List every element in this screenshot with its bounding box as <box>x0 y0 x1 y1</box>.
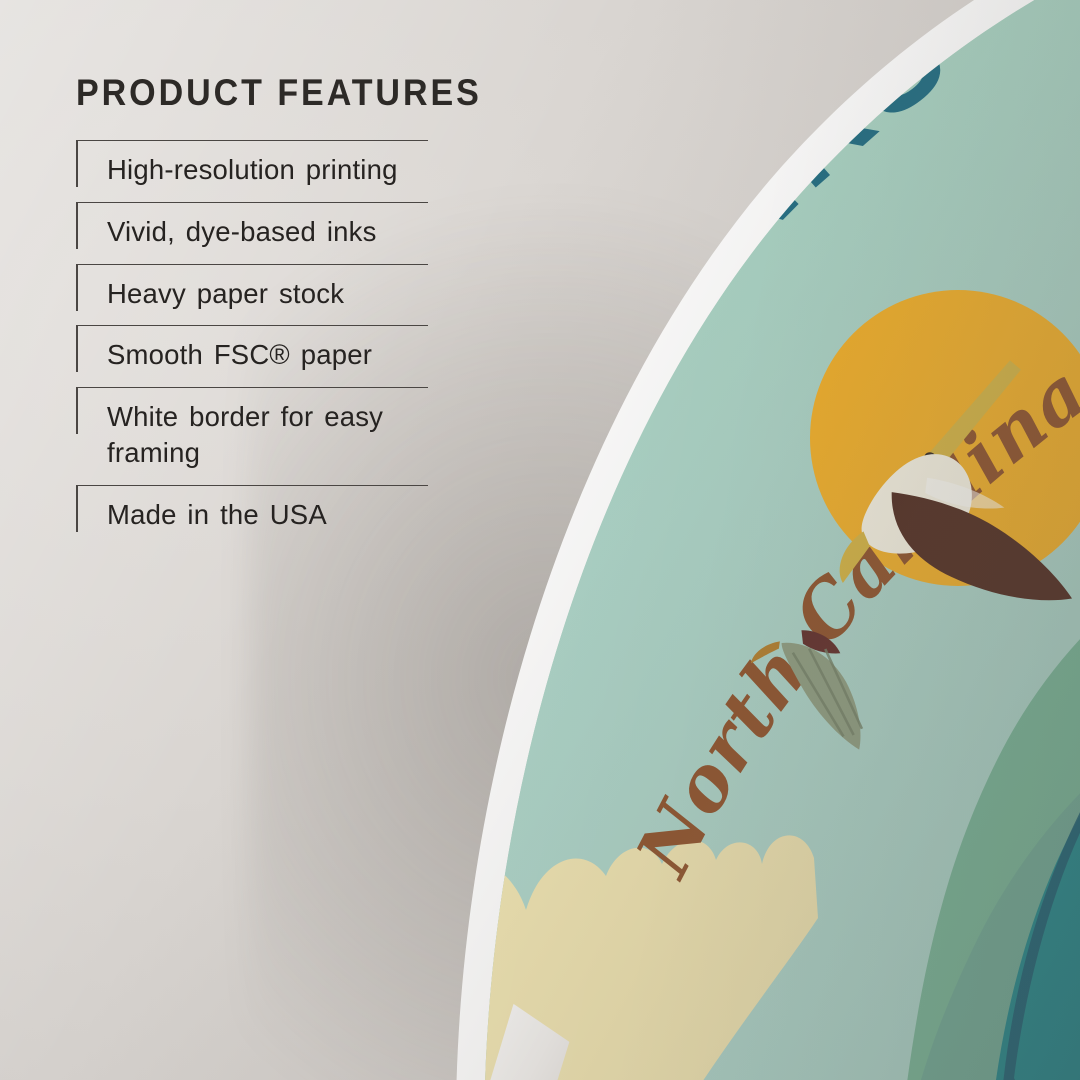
feature-label: White border for easy framing <box>107 399 428 471</box>
feature-label: Made in the USA <box>107 497 428 533</box>
feature-label: High-resolution printing <box>107 152 428 188</box>
feature-label: Smooth FSC® paper <box>107 337 428 373</box>
feature-list-item: High-resolution printing <box>76 140 428 202</box>
feature-list-item: Vivid, dye-based inks <box>76 202 428 264</box>
product-features-panel: PRODUCT FEATURES High-resolution printin… <box>76 72 428 546</box>
feature-list-item: Heavy paper stock <box>76 264 428 326</box>
page-title: PRODUCT FEATURES <box>76 72 400 114</box>
feature-label: Vivid, dye-based inks <box>107 214 428 250</box>
feature-label: Heavy paper stock <box>107 276 428 312</box>
product-feature-graphic: OUTER BANKS North Carolina <box>0 0 1080 1080</box>
feature-list-item: White border for easy framing <box>76 387 428 485</box>
feature-list-item: Made in the USA <box>76 485 428 547</box>
feature-list-item: Smooth FSC® paper <box>76 325 428 387</box>
